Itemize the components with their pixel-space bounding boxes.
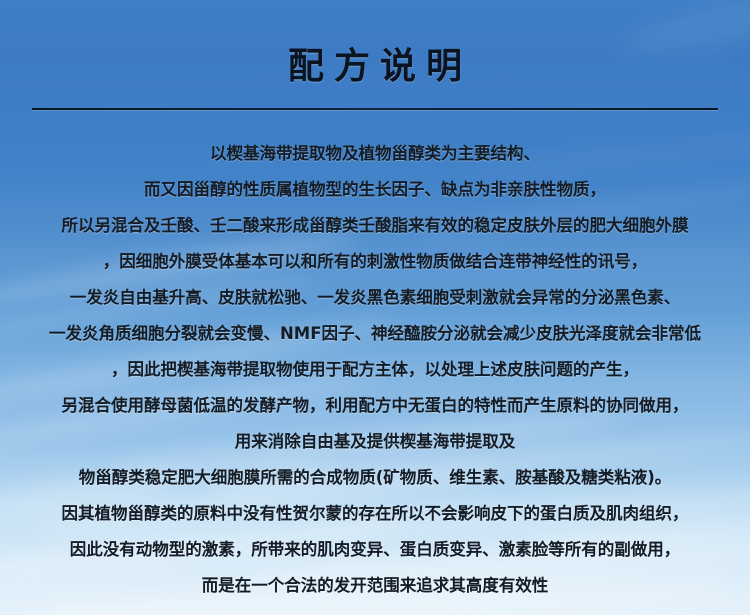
poster-content: 配方说明 以楔基海带提取物及植物甾醇类为主要结构、 而又因甾醇的性质属植物型的生…: [0, 0, 750, 615]
description-line: 另混合使用酵母菌低温的发酵产物，利用配方中无蛋白的特性而产生原料的协同做用，: [0, 388, 750, 424]
description-line: 而又因甾醇的性质属植物型的生长因子、缺点为非亲肤性物质，: [0, 172, 750, 208]
description-line: ，因细胞外膜受体基本可以和所有的刺激性物质做结合连带神经性的讯号，: [0, 244, 750, 280]
description-line: 一发炎角质细胞分裂就会变慢、NMF因子、神经醯胺分泌就会减少皮肤光泽度就会非常低: [0, 316, 750, 352]
description-line: 用来消除自由基及提供楔基海带提取及: [0, 424, 750, 460]
description-line: 物甾醇类稳定肥大细胞膜所需的合成物质(矿物质、维生素、胺基酸及糖类粘液)。: [0, 460, 750, 496]
formula-description-poster: 配方说明 以楔基海带提取物及植物甾醇类为主要结构、 而又因甾醇的性质属植物型的生…: [0, 0, 750, 615]
description-line: 而是在一个合法的发开范围来追求其高度有效性: [0, 568, 750, 604]
description-line: 所以另混合及壬酸、壬二酸来形成甾醇类壬酸脂来有效的稳定皮肤外层的肥大细胞外膜: [0, 208, 750, 244]
description-line: 以楔基海带提取物及植物甾醇类为主要结构、: [0, 136, 750, 172]
description-line: 因此没有动物型的激素，所带来的肌肉变异、蛋白质变异、激素脸等所有的副做用，: [0, 532, 750, 568]
description-line: ，因此把楔基海带提取物使用于配方主体，以处理上述皮肤问题的产生，: [0, 352, 750, 388]
description-line: 一发炎自由基升高、皮肤就松驰、一发炎黑色素细胞受刺激就会异常的分泌黑色素、: [0, 280, 750, 316]
title-divider: [32, 108, 718, 110]
description-body: 以楔基海带提取物及植物甾醇类为主要结构、 而又因甾醇的性质属植物型的生长因子、缺…: [0, 136, 750, 604]
page-title: 配方说明: [0, 42, 750, 90]
description-line: 因其植物甾醇类的原料中没有性贺尔蒙的存在所以不会影响皮下的蛋白质及肌肉组织，: [0, 496, 750, 532]
